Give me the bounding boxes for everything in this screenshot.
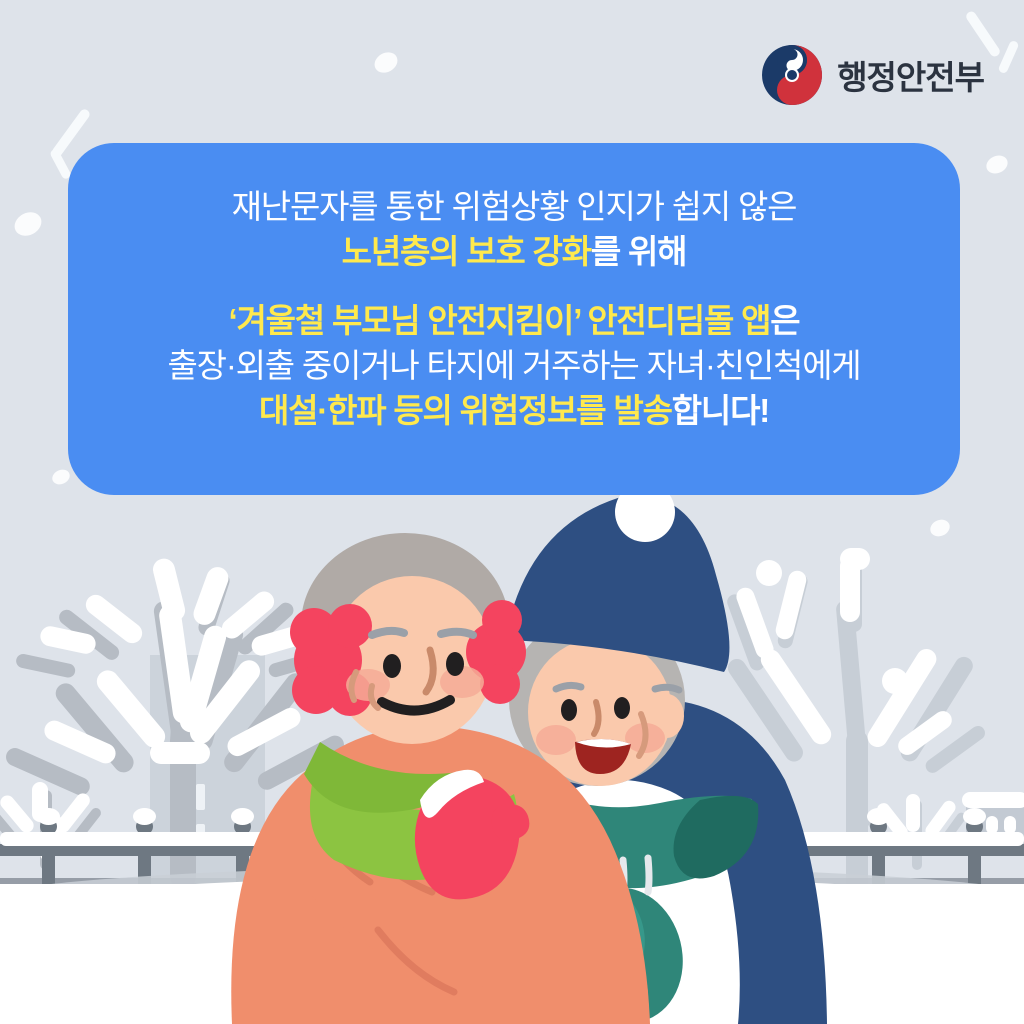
- message-line-3: ‘겨울철 부모님 안전지킴이’ 안전디딤돌 앱은: [68, 299, 960, 344]
- poster-card: 행정안전부 재난문자를 통한 위험상황 인지가 쉽지 않은 노년층의 보호 강화…: [0, 0, 1024, 1024]
- agency-logo: 행정안전부: [761, 44, 984, 106]
- message-line-5: 대설·한파 등의 위험정보를 발송합니다!: [68, 389, 960, 434]
- message-line-2: 노년층의 보호 강화를 위해: [68, 230, 960, 275]
- message-line-4: 출장·외출 중이거나 타지에 거주하는 자녀·친인척에게: [68, 344, 960, 389]
- agency-name: 행정안전부: [837, 51, 984, 99]
- taegeuk-emblem-icon: [761, 44, 823, 106]
- message-panel: 재난문자를 통한 위험상황 인지가 쉽지 않은 노년층의 보호 강화를 위해 ‘…: [68, 143, 960, 495]
- message-line-1: 재난문자를 통한 위험상황 인지가 쉽지 않은: [68, 185, 960, 230]
